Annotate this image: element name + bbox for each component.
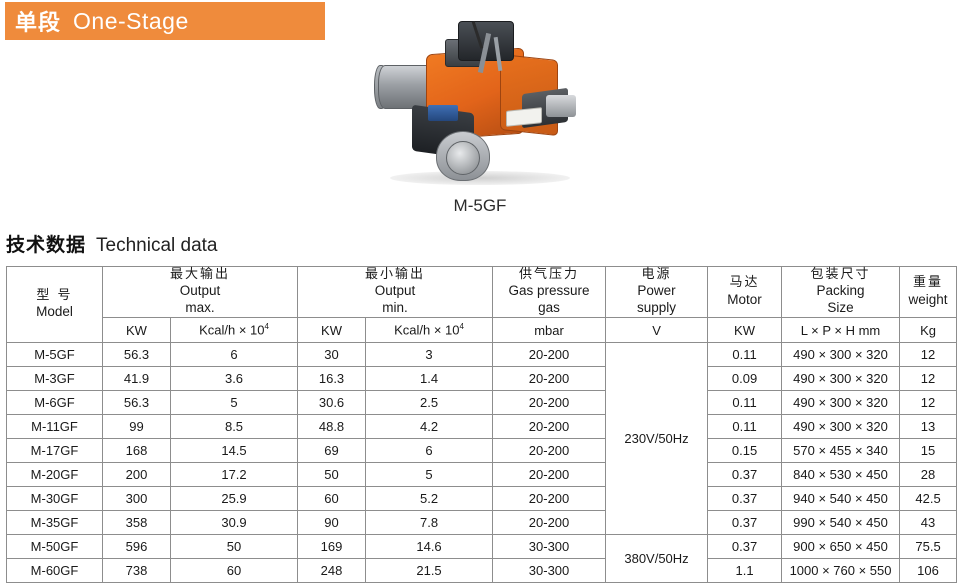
cell-max-kcal: 6 xyxy=(171,343,298,367)
cell-model: M-11GF xyxy=(7,415,103,439)
unit-max-kcal-sup: 4 xyxy=(264,322,268,331)
header-model-cn: 型 号 xyxy=(7,288,102,304)
cell-motor: 0.37 xyxy=(708,463,782,487)
cell-model: M-17GF xyxy=(7,439,103,463)
header-power-supply: 电源 Power supply xyxy=(606,267,708,318)
cell-motor: 0.15 xyxy=(708,439,782,463)
cell-min-kw: 16.3 xyxy=(298,367,366,391)
cell-model: M-6GF xyxy=(7,391,103,415)
cell-size: 490 × 300 × 320 xyxy=(782,343,900,367)
cell-min-kw: 48.8 xyxy=(298,415,366,439)
unit-max-kcal: Kcal/h × 104 xyxy=(171,318,298,343)
cell-power-supply: 380V/50Hz xyxy=(606,535,708,583)
unit-min-kcal: Kcal/h × 104 xyxy=(366,318,493,343)
cell-weight: 12 xyxy=(900,391,957,415)
fan-inner-part xyxy=(446,141,480,175)
technical-data-title: 技术数据 Technical data xyxy=(6,230,217,257)
section-title-en: Technical data xyxy=(96,235,217,257)
header-output-min: 最小输出 Output min. xyxy=(298,267,493,318)
cell-motor: 0.11 xyxy=(708,415,782,439)
header-gas-pressure: 供气压力 Gas pressure gas xyxy=(493,267,606,318)
cell-weight: 106 xyxy=(900,559,957,583)
cell-max-kw: 56.3 xyxy=(103,391,171,415)
unit-max-kw: KW xyxy=(103,318,171,343)
cell-max-kw: 596 xyxy=(103,535,171,559)
cell-model: M-20GF xyxy=(7,463,103,487)
cell-gas: 30-300 xyxy=(493,535,606,559)
cell-motor: 0.11 xyxy=(708,343,782,367)
cell-motor: 0.37 xyxy=(708,511,782,535)
cell-gas: 20-200 xyxy=(493,415,606,439)
unit-size: L × P × H mm xyxy=(782,318,900,343)
cell-gas: 20-200 xyxy=(493,367,606,391)
cell-max-kcal: 5 xyxy=(171,391,298,415)
cell-max-kcal: 50 xyxy=(171,535,298,559)
header-packing-size-cn: 包装尺寸 xyxy=(782,267,899,283)
cell-max-kw: 200 xyxy=(103,463,171,487)
cell-max-kcal: 14.5 xyxy=(171,439,298,463)
table-row: M-11GF 99 8.5 48.8 4.2 20-200 0.11 490 ×… xyxy=(7,415,957,439)
cell-max-kw: 168 xyxy=(103,439,171,463)
unit-gas: mbar xyxy=(493,318,606,343)
cell-gas: 20-200 xyxy=(493,391,606,415)
header-power-supply-en1: Power xyxy=(606,283,707,300)
unit-weight: Kg xyxy=(900,318,957,343)
cell-gas: 20-200 xyxy=(493,343,606,367)
cell-gas: 30-300 xyxy=(493,559,606,583)
cell-max-kw: 56.3 xyxy=(103,343,171,367)
cell-weight: 75.5 xyxy=(900,535,957,559)
header-gas-pressure-en1: Gas pressure xyxy=(493,283,605,300)
cell-max-kw: 99 xyxy=(103,415,171,439)
cell-min-kw: 169 xyxy=(298,535,366,559)
cell-min-kcal: 4.2 xyxy=(366,415,493,439)
unit-min-kcal-text: Kcal/h × 10 xyxy=(394,323,459,338)
gas-burner-photo xyxy=(350,13,610,188)
cell-min-kcal: 5 xyxy=(366,463,493,487)
cell-size: 490 × 300 × 320 xyxy=(782,415,900,439)
header-motor-cn: 马达 xyxy=(708,275,781,291)
header-packing-size-en2: Size xyxy=(782,300,899,317)
banner-title-en: One-Stage xyxy=(73,8,189,35)
section-banner: 单段 One-Stage xyxy=(5,2,325,40)
header-gas-pressure-cn: 供气压力 xyxy=(493,267,605,283)
cell-size: 490 × 300 × 320 xyxy=(782,391,900,415)
unit-motor: KW xyxy=(708,318,782,343)
header-packing-size: 包装尺寸 Packing Size xyxy=(782,267,900,318)
cell-power-supply: 230V/50Hz xyxy=(606,343,708,535)
cell-max-kcal: 17.2 xyxy=(171,463,298,487)
cell-model: M-50GF xyxy=(7,535,103,559)
cell-min-kcal: 5.2 xyxy=(366,487,493,511)
header-weight-en1: weight xyxy=(900,292,956,309)
cell-min-kw: 90 xyxy=(298,511,366,535)
cell-weight: 12 xyxy=(900,343,957,367)
product-image-area: M-5GF xyxy=(330,8,630,223)
table-row: M-35GF 358 30.9 90 7.8 20-200 0.37 990 ×… xyxy=(7,511,957,535)
header-power-supply-cn: 电源 xyxy=(606,267,707,283)
cell-min-kw: 30 xyxy=(298,343,366,367)
header-output-max: 最大输出 Output max. xyxy=(103,267,298,318)
header-model: 型 号 Model xyxy=(7,267,103,343)
table-row: M-20GF 200 17.2 50 5 20-200 0.37 840 × 5… xyxy=(7,463,957,487)
unit-min-kcal-sup: 4 xyxy=(460,322,464,331)
cell-motor: 0.09 xyxy=(708,367,782,391)
control-box-part xyxy=(428,105,458,121)
table-header-row-units: KW Kcal/h × 104 KW Kcal/h × 104 mbar V K… xyxy=(7,318,957,343)
table-header-row-main: 型 号 Model 最大输出 Output max. 最小输出 Output m… xyxy=(7,267,957,318)
cell-size: 1000 × 760 × 550 xyxy=(782,559,900,583)
table-row: M-30GF 300 25.9 60 5.2 20-200 0.37 940 ×… xyxy=(7,487,957,511)
cell-weight: 12 xyxy=(900,367,957,391)
cell-max-kcal: 30.9 xyxy=(171,511,298,535)
cell-max-kcal: 8.5 xyxy=(171,415,298,439)
header-output-max-en2: max. xyxy=(103,300,297,317)
unit-power: V xyxy=(606,318,708,343)
cell-motor: 0.37 xyxy=(708,535,782,559)
cell-max-kcal: 3.6 xyxy=(171,367,298,391)
cell-gas: 20-200 xyxy=(493,463,606,487)
cell-max-kw: 300 xyxy=(103,487,171,511)
cell-weight: 42.5 xyxy=(900,487,957,511)
cell-weight: 15 xyxy=(900,439,957,463)
cell-max-kw: 358 xyxy=(103,511,171,535)
header-motor-en1: Motor xyxy=(708,292,781,309)
technical-data-table: 型 号 Model 最大输出 Output max. 最小输出 Output m… xyxy=(6,266,957,583)
table-row: M-3GF 41.9 3.6 16.3 1.4 20-200 0.09 490 … xyxy=(7,367,957,391)
header-output-max-cn: 最大输出 xyxy=(103,267,297,283)
cell-min-kw: 30.6 xyxy=(298,391,366,415)
cell-model: M-35GF xyxy=(7,511,103,535)
cell-weight: 13 xyxy=(900,415,957,439)
cell-size: 570 × 455 × 340 xyxy=(782,439,900,463)
cell-gas: 20-200 xyxy=(493,511,606,535)
header-gas-pressure-en2: gas xyxy=(493,300,605,317)
cell-size: 990 × 540 × 450 xyxy=(782,511,900,535)
table-row: M-6GF 56.3 5 30.6 2.5 20-200 0.11 490 × … xyxy=(7,391,957,415)
unit-min-kw: KW xyxy=(298,318,366,343)
header-output-min-en1: Output xyxy=(298,283,492,300)
section-title-cn: 技术数据 xyxy=(6,230,86,257)
table-row: M-17GF 168 14.5 69 6 20-200 0.15 570 × 4… xyxy=(7,439,957,463)
nozzle-part xyxy=(546,95,576,117)
header-packing-size-en1: Packing xyxy=(782,283,899,300)
table-row: M-5GF 56.3 6 30 3 20-200 230V/50Hz 0.11 … xyxy=(7,343,957,367)
cell-gas: 20-200 xyxy=(493,439,606,463)
cell-min-kcal: 6 xyxy=(366,439,493,463)
cell-max-kw: 738 xyxy=(103,559,171,583)
cell-max-kcal: 25.9 xyxy=(171,487,298,511)
cell-size: 900 × 650 × 450 xyxy=(782,535,900,559)
header-weight: 重量 weight xyxy=(900,267,957,318)
cell-min-kw: 60 xyxy=(298,487,366,511)
table-row: M-60GF 738 60 248 21.5 30-300 1.1 1000 ×… xyxy=(7,559,957,583)
cell-weight: 28 xyxy=(900,463,957,487)
cell-model: M-30GF xyxy=(7,487,103,511)
header-motor: 马达 Motor xyxy=(708,267,782,318)
banner-title-cn: 单段 xyxy=(15,5,61,37)
cell-min-kw: 69 xyxy=(298,439,366,463)
cell-min-kcal: 21.5 xyxy=(366,559,493,583)
cell-gas: 20-200 xyxy=(493,487,606,511)
cell-max-kcal: 60 xyxy=(171,559,298,583)
cell-motor: 0.11 xyxy=(708,391,782,415)
header-power-supply-en2: supply xyxy=(606,300,707,317)
cell-size: 490 × 300 × 320 xyxy=(782,367,900,391)
unit-max-kcal-text: Kcal/h × 10 xyxy=(199,323,264,338)
cell-min-kcal: 1.4 xyxy=(366,367,493,391)
header-output-max-en1: Output xyxy=(103,283,297,300)
cell-size: 940 × 540 × 450 xyxy=(782,487,900,511)
cell-motor: 1.1 xyxy=(708,559,782,583)
cell-model: M-60GF xyxy=(7,559,103,583)
cell-min-kw: 248 xyxy=(298,559,366,583)
cell-weight: 43 xyxy=(900,511,957,535)
product-caption: M-5GF xyxy=(330,196,630,216)
cell-min-kcal: 3 xyxy=(366,343,493,367)
table-row: M-50GF 596 50 169 14.6 30-300 380V/50Hz … xyxy=(7,535,957,559)
cell-model: M-5GF xyxy=(7,343,103,367)
header-weight-cn: 重量 xyxy=(900,275,956,291)
cell-min-kcal: 2.5 xyxy=(366,391,493,415)
header-output-min-cn: 最小输出 xyxy=(298,267,492,283)
cell-min-kw: 50 xyxy=(298,463,366,487)
cell-max-kw: 41.9 xyxy=(103,367,171,391)
header-output-min-en2: min. xyxy=(298,300,492,317)
cell-model: M-3GF xyxy=(7,367,103,391)
header-model-en: Model xyxy=(7,304,102,321)
cell-min-kcal: 7.8 xyxy=(366,511,493,535)
cell-size: 840 × 530 × 450 xyxy=(782,463,900,487)
cell-motor: 0.37 xyxy=(708,487,782,511)
cell-min-kcal: 14.6 xyxy=(366,535,493,559)
